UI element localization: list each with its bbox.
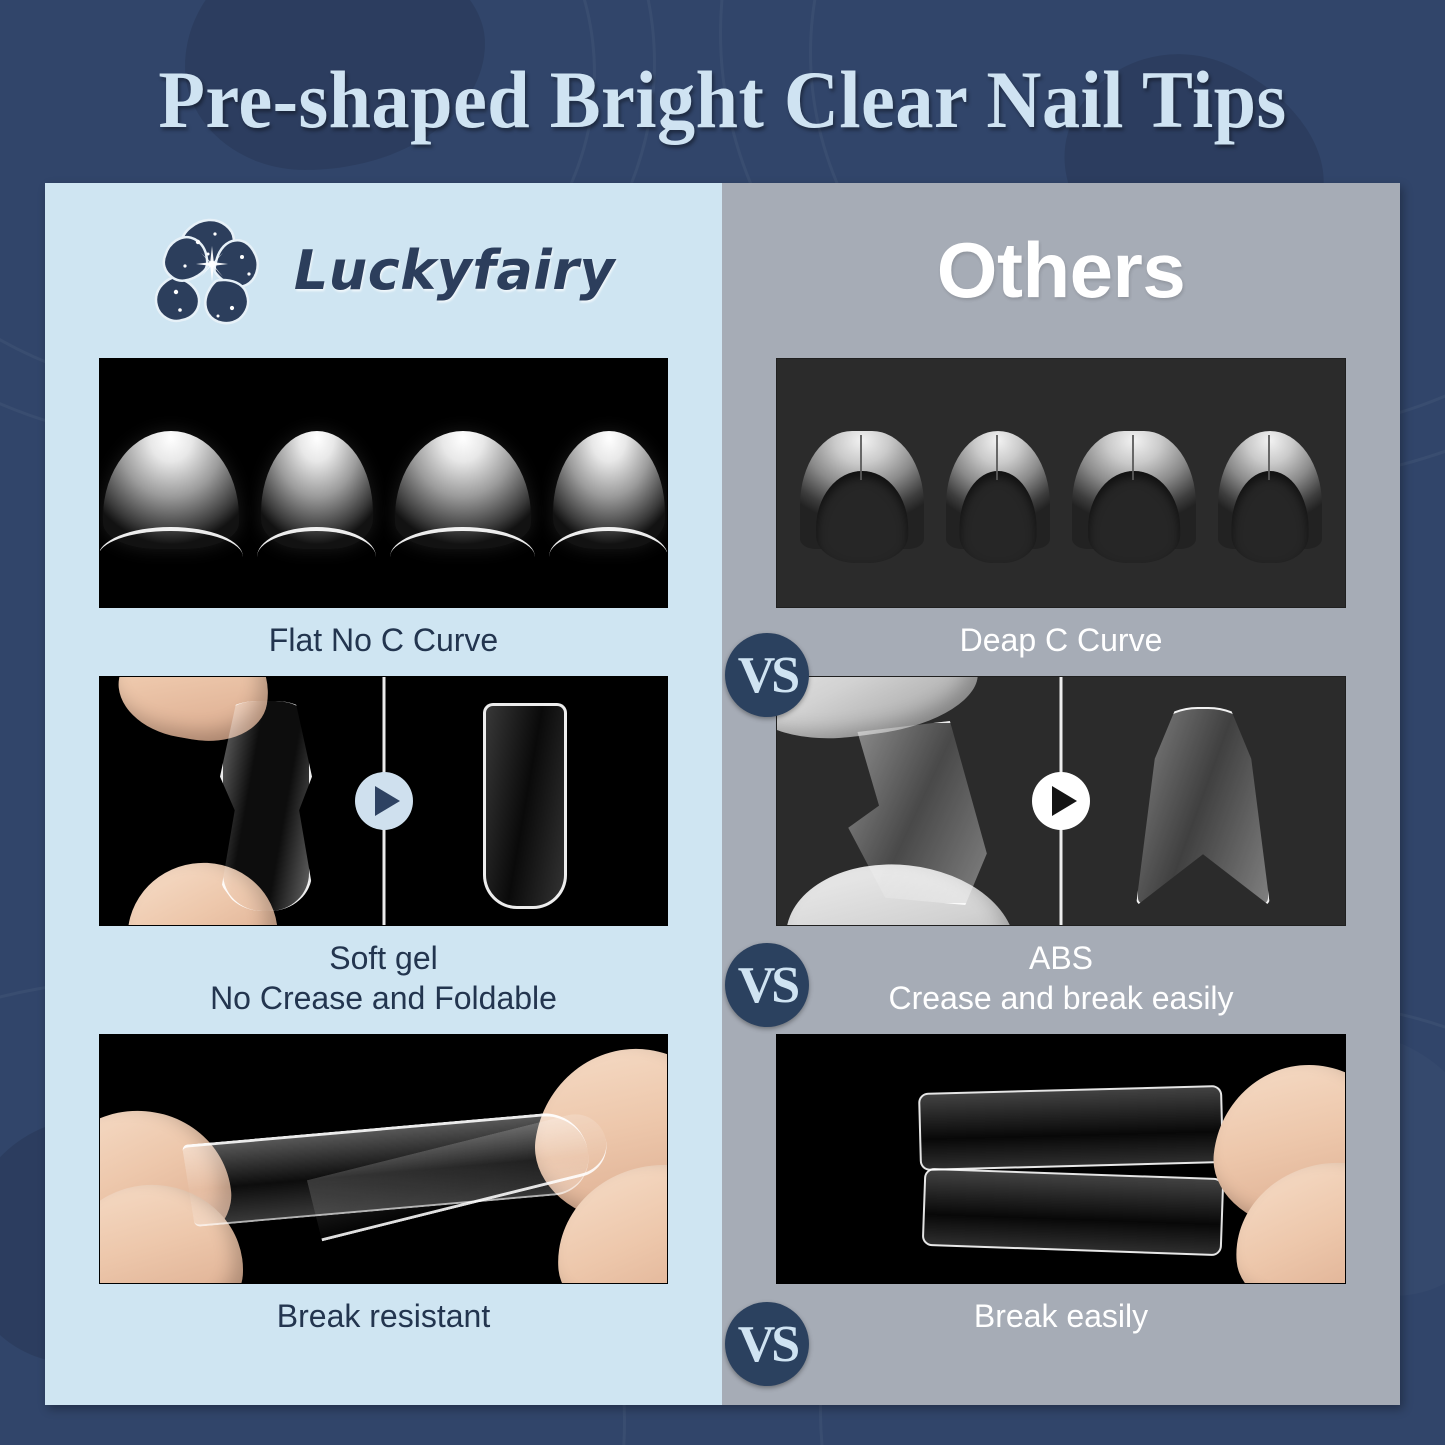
left-row-1-image <box>99 358 668 608</box>
caption-line: Soft gel <box>99 938 668 978</box>
nail-tip-flat <box>261 431 373 549</box>
right-row-1-caption: Deap C Curve <box>776 608 1346 670</box>
bend-demo <box>100 1035 667 1283</box>
vs-badge-2: VS <box>725 943 809 1027</box>
left-row-3: Break resistant <box>99 1034 668 1346</box>
flower-sparkle-logo-icon <box>152 212 272 330</box>
right-row-1: Deap C Curve <box>776 358 1346 670</box>
brand-name: Luckyfairy <box>294 239 615 302</box>
right-rows: Deap C Curve <box>722 358 1400 1346</box>
vs-badge-3: VS <box>725 1302 809 1386</box>
poster-root: Pre-shaped Bright Clear Nail Tips <box>0 0 1445 1445</box>
folded-gel-tip <box>220 701 312 911</box>
nail-tip-deep-curve <box>800 431 924 549</box>
comparison-board: Luckyfairy Flat No C Curve <box>45 183 1400 1405</box>
left-row-3-caption: Break resistant <box>99 1284 668 1346</box>
nail-tip-flat <box>395 431 531 549</box>
nail-tip-deep-curve <box>946 431 1050 549</box>
abs-crease-demo <box>777 677 1345 925</box>
right-row-2-caption: ABS Crease and break easily <box>776 926 1346 1028</box>
flat-gel-tip <box>483 703 567 909</box>
soft-gel-demo <box>100 677 667 925</box>
right-row-3-image <box>776 1034 1346 1284</box>
nail-tip-deep-curve <box>1072 431 1196 549</box>
break-demo <box>777 1035 1345 1283</box>
caption-line: No Crease and Foldable <box>99 978 668 1018</box>
whole-abs-tip <box>1136 707 1270 906</box>
others-title: Others <box>937 225 1185 316</box>
folded-gel-scene <box>100 677 384 925</box>
right-row-1-image <box>776 358 1346 608</box>
nail-tip-flat <box>553 431 665 549</box>
caption-line: Crease and break easily <box>776 978 1346 1018</box>
left-row-1: Flat No C Curve <box>99 358 668 670</box>
left-row-3-image <box>99 1034 668 1284</box>
left-header: Luckyfairy <box>45 183 722 358</box>
flat-tips-group <box>100 359 667 607</box>
panel-others: Others Deap C Curve <box>722 183 1400 1405</box>
deep-curve-tips-group <box>777 359 1345 607</box>
page-title: Pre-shaped Bright Clear Nail Tips <box>51 52 1395 148</box>
left-row-2-image <box>99 676 668 926</box>
caption-line: ABS <box>776 938 1346 978</box>
panel-luckyfairy: Luckyfairy Flat No C Curve <box>45 183 722 1405</box>
creased-abs-scene <box>777 677 1061 925</box>
left-row-2-caption: Soft gel No Crease and Foldable <box>99 926 668 1028</box>
right-header: Others <box>722 183 1400 358</box>
right-row-3: Break easily <box>776 1034 1346 1346</box>
nail-tip-deep-curve <box>1218 431 1322 549</box>
left-rows: Flat No C Curve <box>45 358 722 1346</box>
left-row-1-caption: Flat No C Curve <box>99 608 668 670</box>
right-row-2: ABS Crease and break easily <box>776 676 1346 1028</box>
broken-tip-upper <box>918 1085 1224 1171</box>
left-row-2: Soft gel No Crease and Foldable <box>99 676 668 1028</box>
nail-tip-flat <box>103 431 239 549</box>
whole-abs-scene <box>1061 677 1345 925</box>
play-arrow-right-icon <box>1032 772 1090 830</box>
play-arrow-right-icon <box>355 772 413 830</box>
broken-tip-lower <box>922 1168 1225 1256</box>
brand-lockup: Luckyfairy <box>152 212 615 330</box>
vs-badge-1: VS <box>725 633 809 717</box>
flat-gel-scene <box>384 677 668 925</box>
right-row-2-image <box>776 676 1346 926</box>
right-row-3-caption: Break easily <box>776 1284 1346 1346</box>
